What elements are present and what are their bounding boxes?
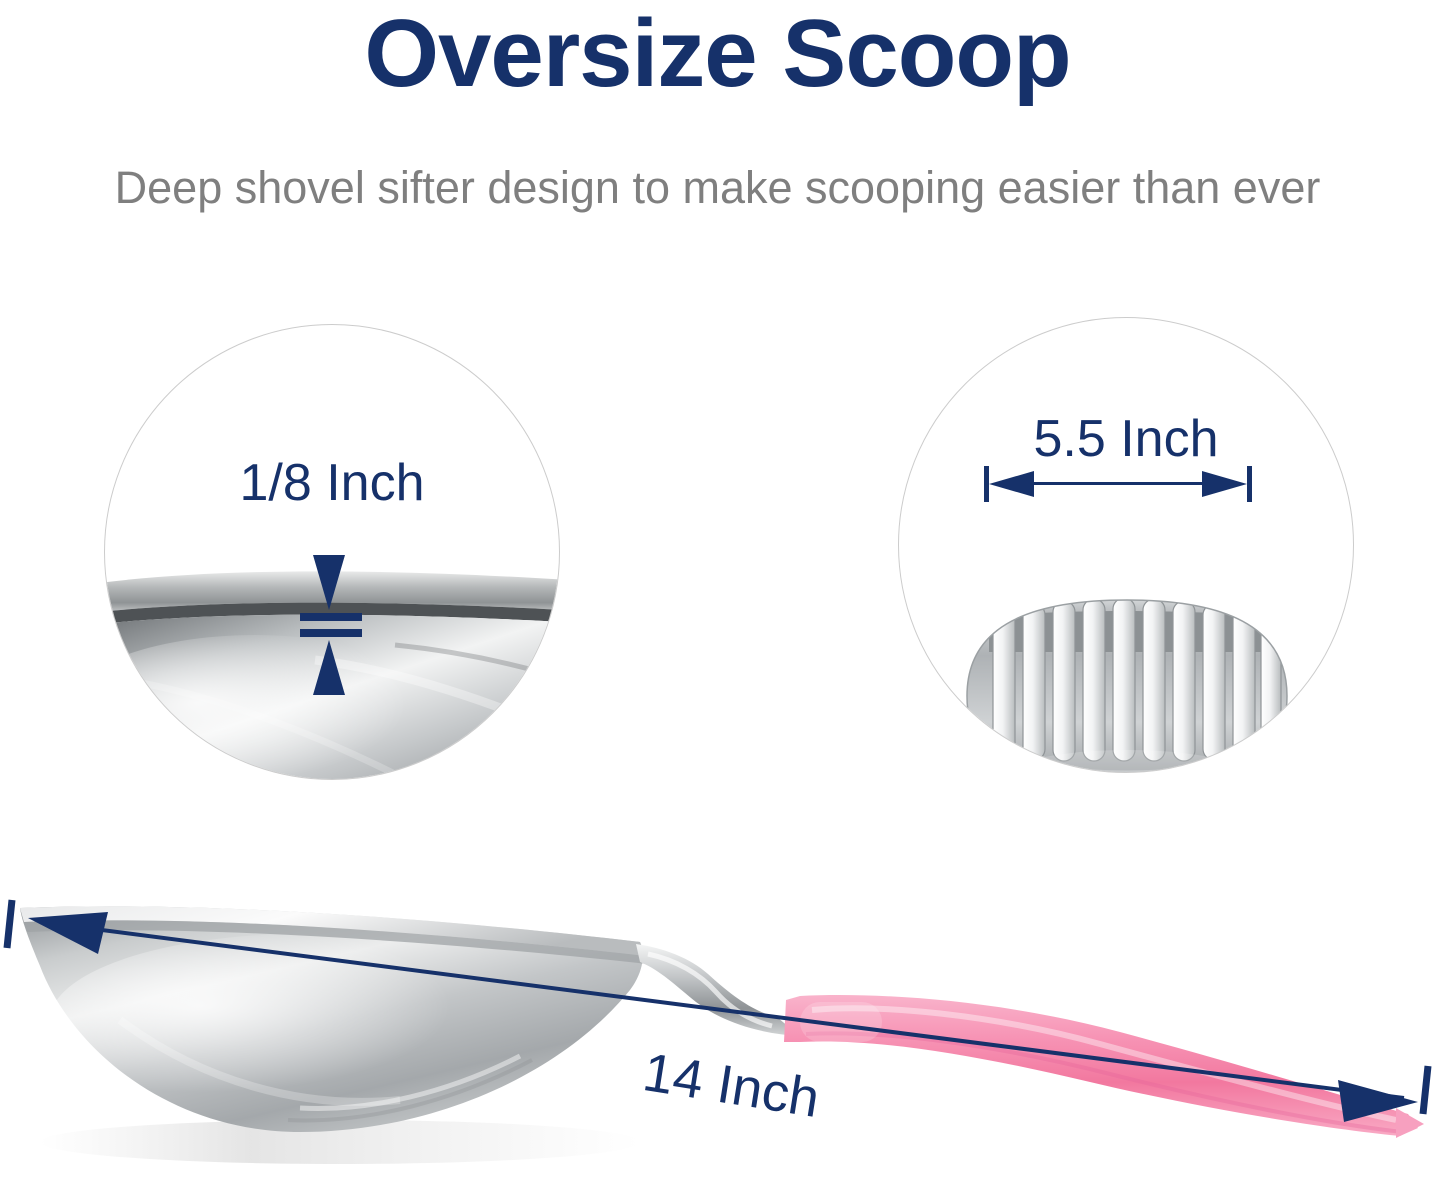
thickness-arrow-up-icon (313, 640, 345, 695)
page-subtitle: Deep shovel sifter design to make scoopi… (0, 165, 1435, 210)
width-dimension-arrow (984, 466, 1252, 502)
width-label: 5.5 Inch (899, 413, 1353, 465)
sifter-scoop-photo (949, 586, 1305, 773)
thickness-bar-lower (300, 629, 362, 637)
thickness-bar-upper (300, 613, 362, 621)
thickness-arrow-down-icon (313, 555, 345, 610)
inset-width-callout: 5.5 Inch (898, 317, 1354, 773)
product-photo-scoop (0, 870, 1435, 1190)
dimension-tick-right (1247, 466, 1252, 502)
page-title: Oversize Scoop (0, 6, 1435, 102)
thickness-label: 1/8 Inch (105, 457, 559, 509)
arrow-right-icon (1202, 471, 1247, 497)
inset-thickness-callout: 1/8 Inch (104, 324, 560, 780)
infographic-page: Oversize Scoop Deep shovel sifter design… (0, 0, 1435, 1190)
arrow-left-icon (989, 471, 1034, 497)
